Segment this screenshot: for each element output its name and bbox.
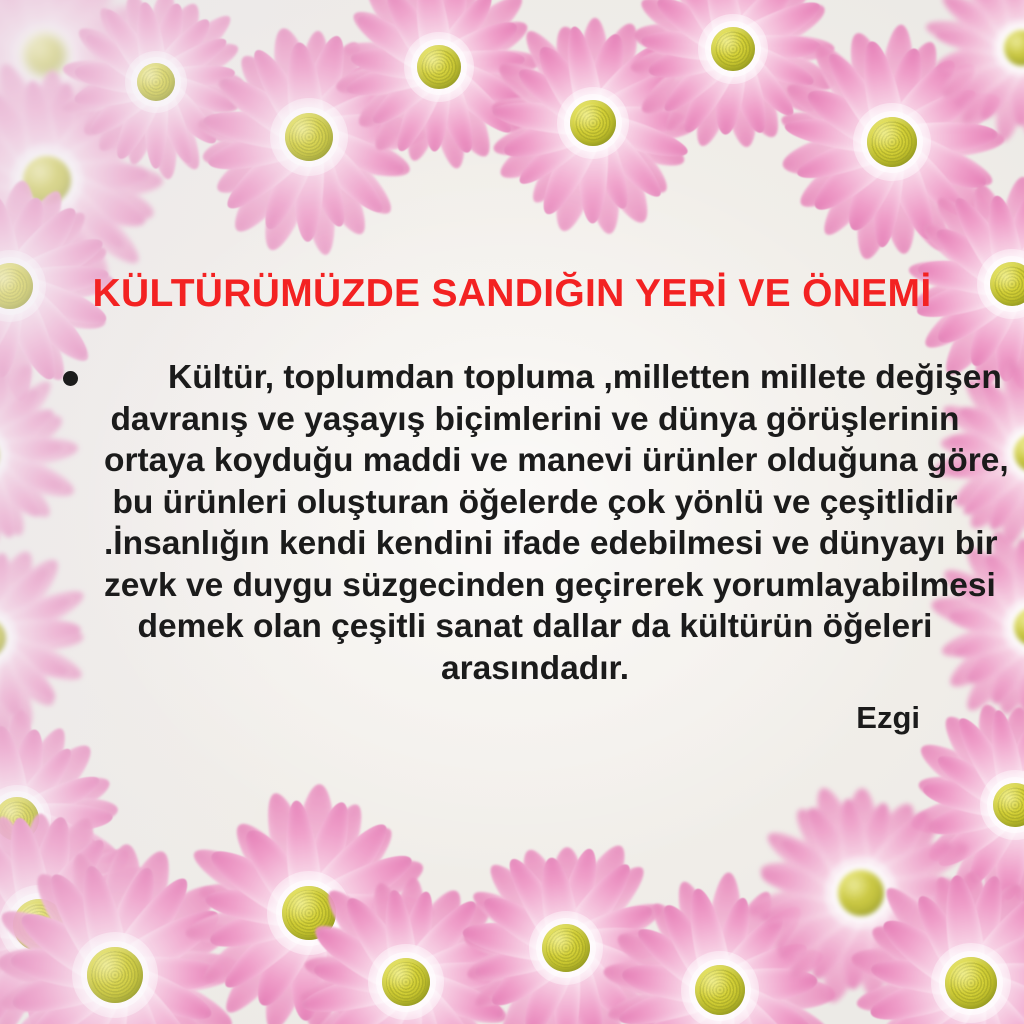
body-line: bu ürünleri oluşturan öğelerde çok yönlü…	[104, 482, 966, 524]
bullet-marker-icon	[63, 371, 78, 386]
slide-content: KÜLTÜRÜMÜZDE SANDIĞIN YERİ VE ÖNEMİ Kült…	[0, 0, 1024, 1024]
author-signature: Ezgi	[0, 700, 920, 736]
body-line: demek olan çeşitli sanat dallar da kültü…	[104, 606, 966, 648]
body-line: arasındadır.	[104, 648, 966, 690]
body-paragraph: Kültür, toplumdan topluma ,milletten mil…	[104, 357, 966, 689]
body-line: .İnsanlığın kendi kendini ifade edebilme…	[104, 523, 966, 565]
flower-border-slide: KÜLTÜRÜMÜZDE SANDIĞIN YERİ VE ÖNEMİ Kült…	[0, 0, 1024, 1024]
body-line: davranış ve yaşayış biçimlerini ve dünya…	[104, 399, 966, 441]
body-line: Kültür, toplumdan topluma ,milletten mil…	[104, 357, 966, 399]
body-line: ortaya koyduğu maddi ve manevi ürünler o…	[104, 440, 966, 482]
page-title: KÜLTÜRÜMÜZDE SANDIĞIN YERİ VE ÖNEMİ	[0, 272, 1024, 316]
body-line: zevk ve duygu süzgecinden geçirerek yoru…	[104, 565, 966, 607]
